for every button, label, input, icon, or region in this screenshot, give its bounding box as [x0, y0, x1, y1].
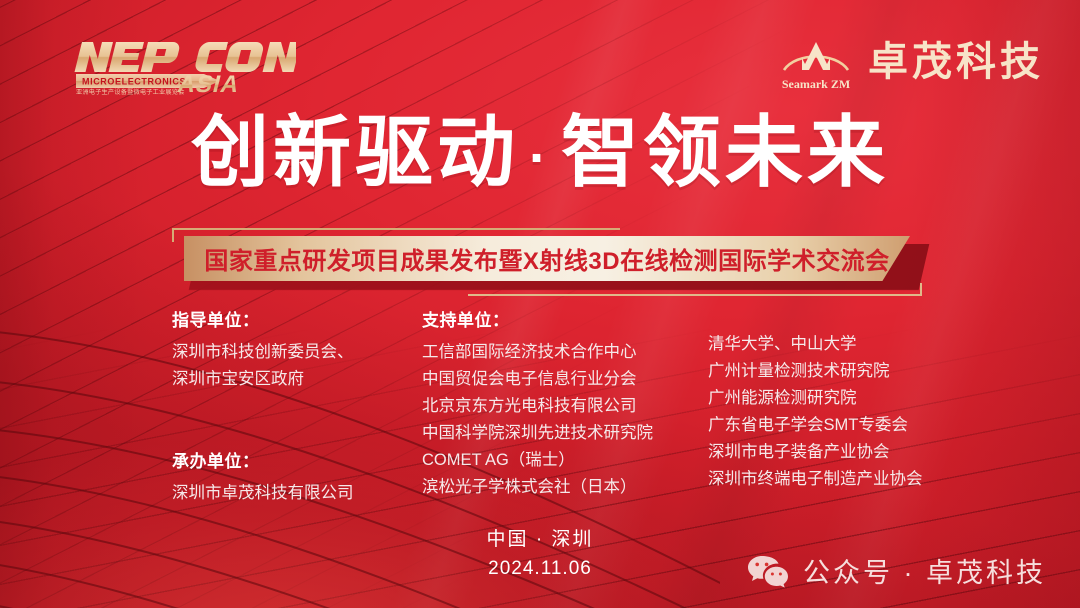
list-item: 中国贸促会电子信息行业分会 [422, 366, 702, 393]
poster-canvas: MICROELECTRONICS 亚洲电子生产设备暨微电子工业展览会 ASIA … [0, 0, 1080, 608]
list-item: 广州计量检测技术研究院 [708, 358, 958, 385]
list-item: 广州能源检测研究院 [708, 385, 958, 412]
page-title: 创新驱动·智领未来 [0, 113, 1080, 191]
seamark-zm-logo: Seamark ZM 卓茂科技 [780, 30, 1044, 94]
title-separator: · [519, 128, 561, 188]
nepcon-region: ASIA [175, 71, 243, 96]
host-block: 承办单位： 深圳市卓茂科技有限公司 [172, 447, 412, 507]
nepcon-tagline: MICROELECTRONICS [82, 77, 186, 87]
list-item: COMET AG（瑞士） [422, 447, 702, 474]
organizations-column-left: 指导单位： 深圳市科技创新委员会、 深圳市宝安区政府 承办单位： 深圳市卓茂科技… [172, 306, 412, 507]
seamark-zm-mountain-icon: Seamark ZM [780, 30, 852, 94]
organizations-section: 指导单位： 深圳市科技创新委员会、 深圳市宝安区政府 承办单位： 深圳市卓茂科技… [0, 306, 1080, 506]
list-item: 深圳市卓茂科技有限公司 [172, 480, 412, 507]
ribbon-frame-bottom [468, 283, 922, 296]
list-item: 深圳市电子装备产业协会 [708, 439, 958, 466]
list-item: 广东省电子学会SMT专委会 [708, 412, 958, 439]
company-name-zh: 卓茂科技 [868, 42, 1044, 82]
nepcon-asia-logo: MICROELECTRONICS 亚洲电子生产设备暨微电子工业展览会 ASIA [52, 34, 296, 96]
subtitle-ribbon: 国家重点研发项目成果发布暨X射线3D在线检测国际学术交流会 [168, 228, 920, 290]
list-item: 工信部国际经济技术合作中心 [422, 339, 702, 366]
event-location: 中国 · 深圳 [0, 526, 1080, 554]
list-item: 深圳市终端电子制造产业协会 [708, 466, 958, 493]
list-item: 中国科学院深圳先进技术研究院 [422, 420, 702, 447]
list-item: 北京京东方光电科技有限公司 [422, 393, 702, 420]
organizations-column-right: 清华大学、中山大学 广州计量检测技术研究院 广州能源检测研究院 广东省电子学会S… [708, 306, 958, 493]
support-heading: 支持单位： [422, 306, 702, 331]
organizations-column-middle: 支持单位： 工信部国际经济技术合作中心 中国贸促会电子信息行业分会 北京京东方光… [422, 306, 702, 501]
host-heading: 承办单位： [172, 447, 412, 472]
title-part-2: 智领未来 [561, 108, 889, 196]
wechat-label: 公众号 · 卓茂科技 [803, 551, 1046, 590]
nepcon-logo-icon: MICROELECTRONICS 亚洲电子生产设备暨微电子工业展览会 ASIA [52, 34, 296, 96]
list-item: 深圳市科技创新委员会、 [172, 339, 412, 366]
wechat-official-account: 公众号 · 卓茂科技 [747, 551, 1046, 590]
ribbon-label: 国家重点研发项目成果发布暨X射线3D在线检测国际学术交流会 [204, 241, 889, 276]
ribbon-band: 国家重点研发项目成果发布暨X射线3D在线检测国际学术交流会 [184, 236, 910, 281]
list-item: 清华大学、中山大学 [708, 331, 958, 358]
list-item: 深圳市宝安区政府 [172, 366, 412, 393]
list-item: 滨松光子学株式会社（日本） [422, 474, 702, 501]
guidance-heading: 指导单位： [172, 306, 412, 331]
title-part-1: 创新驱动 [191, 108, 519, 196]
seamark-zm-label: Seamark ZM [782, 77, 850, 91]
nepcon-subtagline: 亚洲电子生产设备暨微电子工业展览会 [76, 88, 185, 96]
wechat-icon [747, 554, 789, 588]
